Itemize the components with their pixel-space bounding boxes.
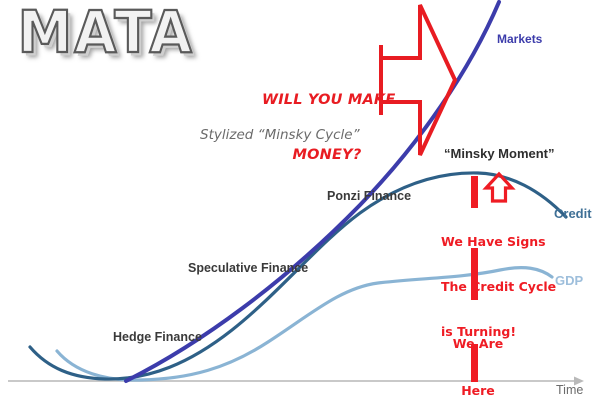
we-are-here-line-1: We Are <box>450 336 506 352</box>
signs-line-1: We Have Signs <box>441 234 556 249</box>
will-you-make-money-line-1: WILL YOU MAKE <box>262 91 392 109</box>
annotation-minsky-moment: “Minsky Moment” <box>444 147 555 162</box>
phase-label-speculative-finance: Speculative Finance <box>188 261 308 275</box>
phase-label-hedge-finance: Hedge Finance <box>113 330 202 344</box>
will-you-make-money-line-2: MONEY? <box>262 146 392 164</box>
series-label-gdp: GDP <box>555 274 583 289</box>
annotation-we-are-here: We Are Here <box>450 305 506 403</box>
we-are-here-line-2: Here <box>450 383 506 399</box>
minsky-cycle-chart-image: MATA Stylized “Minsky Cycle” Hedge Finan… <box>0 0 604 403</box>
x-axis-label-time: Time <box>556 383 583 397</box>
annotation-will-you-make-money: WILL YOU MAKE MONEY? <box>262 55 392 200</box>
series-label-markets: Markets <box>497 33 542 46</box>
series-label-credit: Credit <box>554 207 592 222</box>
will-you-make-money-arrow-icon <box>381 5 455 155</box>
signs-line-2: The Credit Cycle <box>441 279 556 294</box>
